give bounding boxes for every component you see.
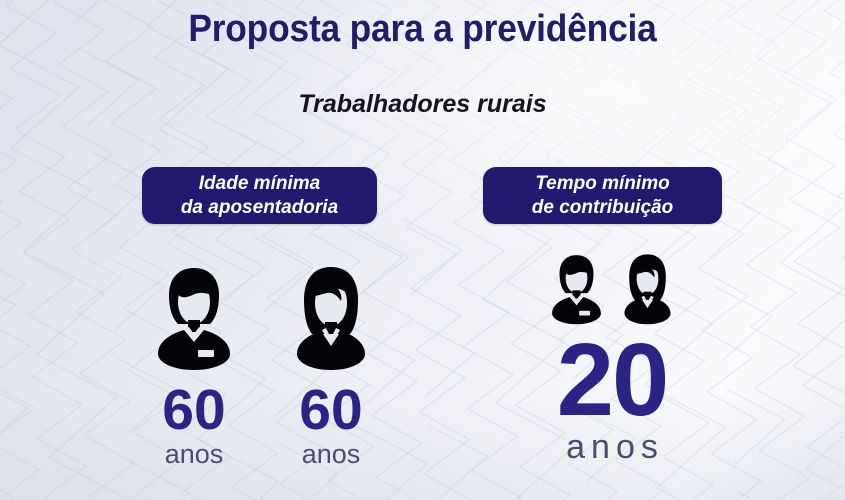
- person-male-icon-small: [548, 251, 605, 327]
- person-female-icon: [289, 262, 373, 374]
- person-male-icon: [152, 262, 236, 374]
- page-subtitle: Trabalhadores rurais: [0, 90, 845, 119]
- infographic-canvas: Proposta para a previdência Trabalhadore…: [0, 0, 845, 500]
- badge-contribution-time-line1: Tempo mínimo: [535, 172, 669, 196]
- badge-retirement-age-line2: da aposentadoria: [181, 196, 338, 220]
- page-title: Proposta para a previdência: [30, 8, 816, 51]
- person-couple-icon: [548, 251, 676, 327]
- metric-male-retirement-age-unit: anos: [165, 441, 224, 468]
- metric-male-retirement-age-value: 60: [162, 384, 225, 436]
- metric-contribution-time-unit: anos: [566, 430, 664, 464]
- person-female-icon-small: [619, 251, 676, 327]
- metric-female-retirement-age-value: 60: [299, 384, 362, 436]
- badge-contribution-time-line2: de contribuição: [532, 196, 673, 220]
- badge-retirement-age-line1: Idade mínima: [199, 172, 320, 196]
- metric-male-retirement-age: 60 anos: [146, 262, 242, 468]
- metric-female-retirement-age-unit: anos: [302, 441, 361, 468]
- metric-female-retirement-age: 60 anos: [283, 262, 379, 468]
- badge-retirement-age: Idade mínima da aposentadoria: [142, 167, 377, 224]
- metric-contribution-time: 20 anos: [500, 251, 724, 464]
- metric-contribution-time-value: 20: [557, 333, 668, 428]
- badge-contribution-time: Tempo mínimo de contribuição: [483, 167, 722, 224]
